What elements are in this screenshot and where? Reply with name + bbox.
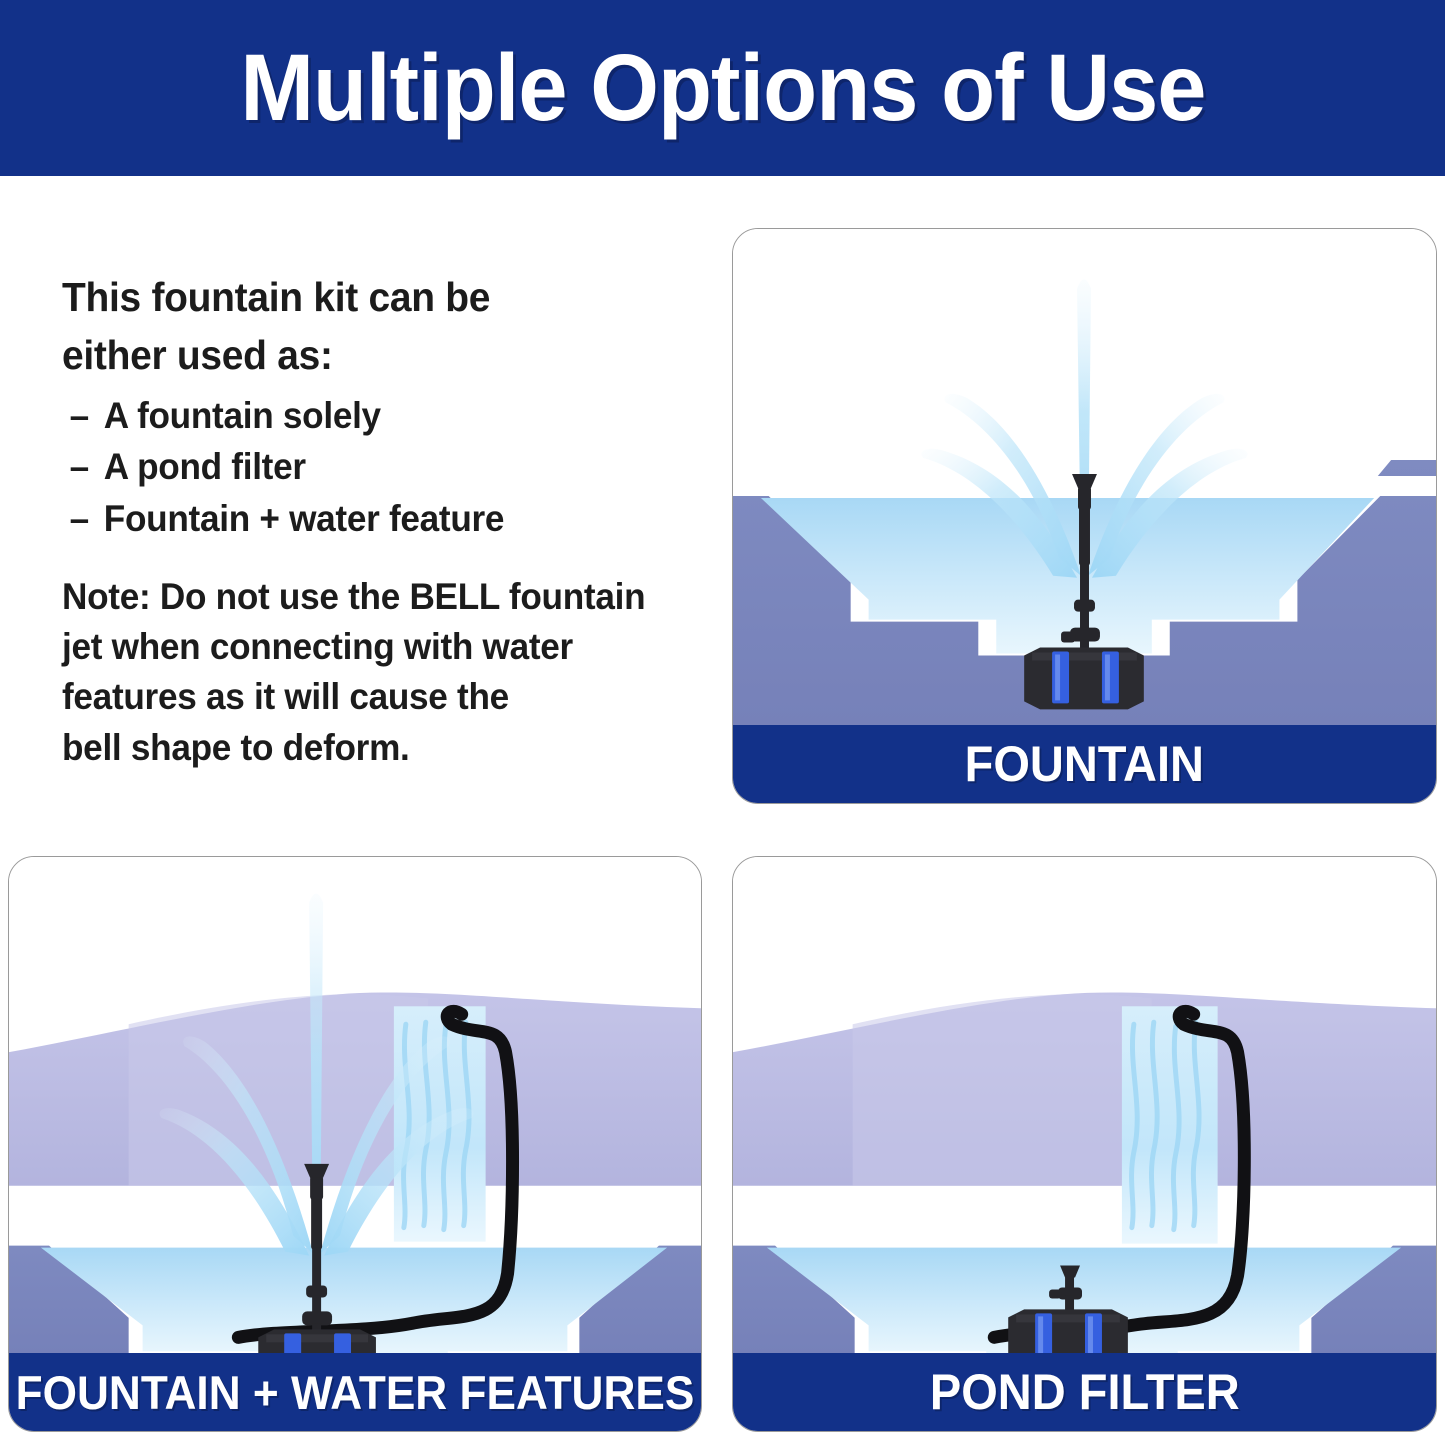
card-fountain-water-features: FOUNTAIN + WATER FEATURES	[8, 856, 702, 1432]
fountain-water-features-label-bar: FOUNTAIN + WATER FEATURES	[9, 1353, 701, 1431]
dash-icon: –	[62, 441, 104, 492]
card-label-pond-filter: POND FILTER	[930, 1367, 1240, 1417]
pump-accent-left	[1035, 1313, 1052, 1353]
pump-accent-right	[1085, 1313, 1102, 1353]
pump-unit	[1024, 648, 1144, 710]
dash-icon: –	[62, 390, 104, 441]
pond-filter-scene	[733, 857, 1436, 1353]
pond-fountain-illustration	[733, 229, 1436, 725]
list-item: – A fountain solely	[62, 390, 651, 441]
dash-icon: –	[62, 493, 104, 544]
pump-accent-right	[334, 1333, 351, 1353]
card-label-fountain-water-features: FOUNTAIN + WATER FEATURES	[16, 1369, 695, 1416]
hill-highlight	[853, 994, 1152, 1186]
pond-filter-label-bar: POND FILTER	[733, 1353, 1436, 1431]
card-fountain: FOUNTAIN	[732, 228, 1437, 804]
list-item: – A pond filter	[62, 441, 651, 492]
intro-line-1: This fountain kit can be	[62, 268, 651, 326]
note-line-4: bell shape to deform.	[62, 723, 651, 773]
note-line-2: jet when connecting with water	[62, 622, 651, 672]
pond-filter-waterfall-illustration	[733, 857, 1436, 1353]
pump-accent-right	[1102, 652, 1119, 704]
card-pond-filter: POND FILTER	[732, 856, 1437, 1432]
usage-bullet-list: – A fountain solely – A pond filter – Fo…	[62, 390, 682, 543]
description-panel: This fountain kit can be either used as:…	[62, 268, 682, 773]
header-banner: Multiple Options of Use	[0, 0, 1445, 176]
page-title: Multiple Options of Use	[240, 41, 1205, 136]
pump-accent-left	[1052, 652, 1069, 704]
pump-unit	[1008, 1309, 1128, 1353]
list-item: – Fountain + water feature	[62, 493, 651, 544]
note-text: Note: Do not use the BELL fountain jet w…	[62, 572, 651, 773]
fountain-water-features-scene	[9, 857, 701, 1353]
pump-unit	[258, 1329, 376, 1353]
list-item-label: Fountain + water feature	[104, 493, 504, 544]
intro-line-2: either used as:	[62, 326, 651, 384]
fountain-scene	[733, 229, 1436, 725]
list-item-label: A fountain solely	[104, 390, 381, 441]
note-line-3: features as it will cause the	[62, 672, 651, 722]
list-item-label: A pond filter	[104, 441, 306, 492]
card-label-fountain: FOUNTAIN	[965, 739, 1204, 789]
pump-accent-left	[284, 1333, 301, 1353]
note-line-1: Note: Do not use the BELL fountain	[62, 572, 651, 622]
pond-fountain-waterfall-illustration	[9, 857, 701, 1353]
fountain-label-bar: FOUNTAIN	[733, 725, 1436, 803]
intro-text: This fountain kit can be either used as:	[62, 268, 682, 384]
